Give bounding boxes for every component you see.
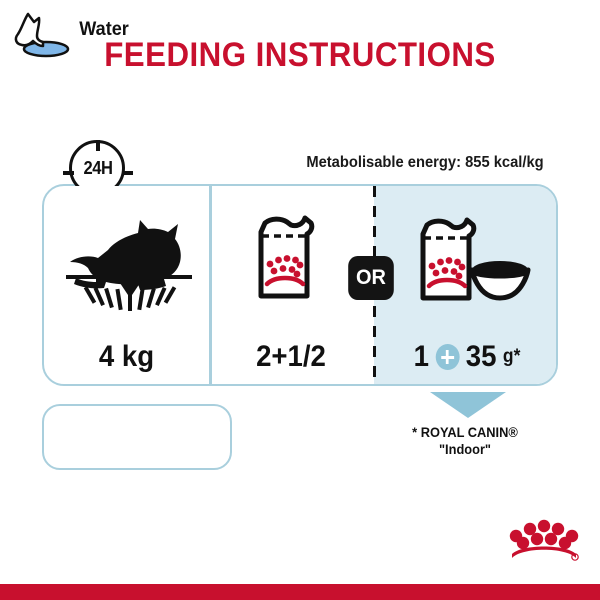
clock-tick-top [96, 140, 100, 151]
footnote-line-2: "Indoor" [375, 441, 556, 458]
water-label: Water [79, 19, 128, 41]
footnote: * ROYAL CANIN® "Indoor" [375, 424, 556, 458]
duration-label: 24H [66, 158, 130, 179]
option-b-values: 1 35 g* [383, 340, 550, 374]
footnote-line-1: * ROYAL CANIN® [375, 424, 556, 441]
pouch-count-value: 1 [414, 340, 429, 374]
water-box [42, 404, 232, 470]
pouch-icon [253, 212, 315, 300]
royal-canin-crown-logo [508, 512, 580, 562]
cat-weight-value: 4 kg [51, 340, 203, 374]
bottom-red-bar [0, 584, 600, 600]
pouch-quantity-value: 2+1/2 [217, 340, 364, 374]
feeding-instructions-page: FEEDING INSTRUCTIONS Metabolisable energ… [0, 0, 600, 600]
cat-on-scale-icon [60, 212, 200, 317]
plus-circle-icon [435, 344, 459, 370]
cat-drinking-water-icon [12, 8, 78, 58]
metabolisable-energy-text: Metabolisable energy: 855 kcal/kg [283, 154, 568, 172]
column-divider [209, 186, 212, 384]
grams-unit: g* [503, 346, 520, 368]
clock-24h-icon: 24H [63, 138, 133, 186]
footnote-arrow-icon [430, 392, 506, 418]
pouch-and-bowl-icon [415, 212, 533, 304]
grams-value: 35 [466, 340, 497, 374]
or-separator-badge: OR [348, 256, 394, 300]
page-title: FEEDING INSTRUCTIONS [24, 36, 576, 75]
